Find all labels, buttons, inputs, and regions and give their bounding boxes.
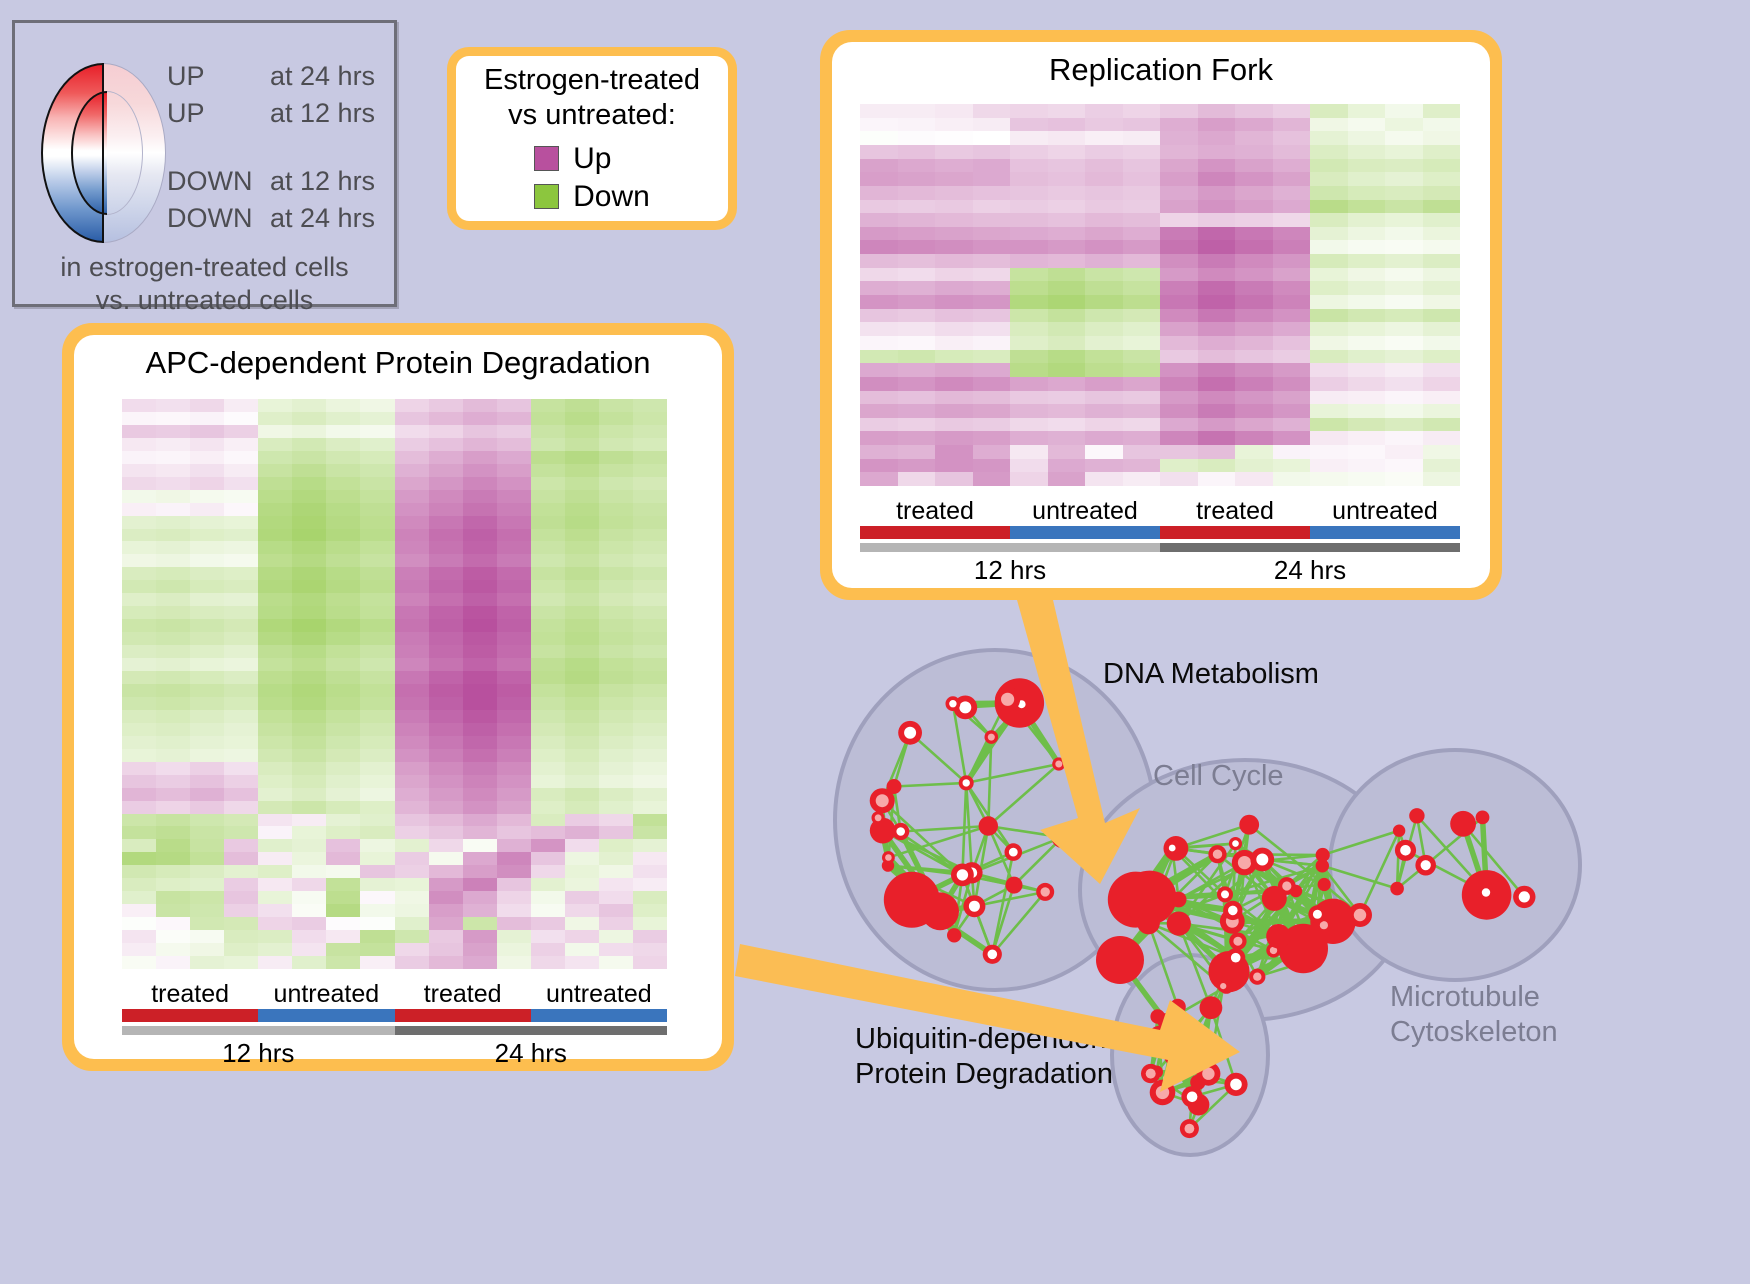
apc-time-labels: 12 hrs24 hrs: [122, 1038, 667, 1069]
apc-time-bar: [122, 1026, 667, 1035]
network-node: [1239, 815, 1259, 835]
group-label: untreated: [1010, 497, 1160, 526]
network-node: [1232, 840, 1239, 847]
network-node: [1409, 808, 1424, 823]
network-node: [1238, 856, 1251, 869]
ring-divider: [102, 63, 104, 243]
group-color-bar: [531, 1009, 667, 1022]
network-node: [885, 854, 892, 861]
network-node: [1137, 912, 1160, 935]
group-label: untreated: [531, 980, 667, 1009]
legend-key-down-24: DOWN: [167, 203, 252, 234]
panel-apc-degradation: APC-dependent Protein Degradation treate…: [62, 323, 734, 1071]
estrogen-legend-title-line1: Estrogen-treated: [484, 63, 700, 97]
network-node: [1400, 845, 1411, 856]
up-color-swatch: [534, 146, 559, 171]
down-color-swatch: [534, 184, 559, 209]
cluster-label-cell-cycle: Cell Cycle: [1153, 760, 1284, 793]
network-node: [1146, 1069, 1156, 1079]
network-node: [1318, 878, 1331, 891]
time-label: 12 hrs: [860, 555, 1160, 586]
network-node: [1450, 811, 1476, 837]
network-node: [959, 701, 971, 713]
time-color-bar: [122, 1026, 395, 1035]
network-node: [949, 700, 956, 707]
group-color-bar: [1010, 526, 1160, 539]
legend-key-up-12: UP: [167, 98, 205, 129]
network-node: [1185, 1066, 1192, 1073]
network-node: [1354, 909, 1366, 921]
network-node: [1282, 881, 1291, 890]
group-label: untreated: [258, 980, 394, 1009]
network-node: [957, 869, 968, 880]
estrogen-legend-title-line2: vs untreated:: [484, 98, 700, 132]
network-node: [1476, 811, 1490, 825]
legend-value-down-24: at 24 hrs: [270, 203, 375, 234]
estrogen-color-legend: Estrogen-treated vs untreated: Up Down: [447, 47, 737, 230]
network-node: [1200, 996, 1223, 1019]
network-node: [876, 794, 889, 807]
expression-circle-legend: UP at 24 hrs UP at 12 hrs DOWN at 12 hrs…: [12, 20, 397, 307]
network-node: [1057, 832, 1068, 843]
time-label: 24 hrs: [1160, 555, 1460, 586]
circle-legend-footer-line1: in estrogen-treated cells: [15, 251, 394, 284]
network-node: [1393, 825, 1405, 837]
group-color-bar: [1310, 526, 1460, 539]
network-node: [1156, 1086, 1169, 1099]
network-node: [1482, 888, 1490, 896]
network-node: [904, 727, 916, 739]
time-color-bar: [860, 543, 1160, 552]
group-label: treated: [860, 497, 1010, 526]
network-node: [1390, 882, 1404, 896]
legend-value-up-24: at 24 hrs: [270, 61, 375, 92]
network-node: [1041, 887, 1050, 896]
network-node: [1171, 892, 1187, 908]
network-node: [1233, 937, 1242, 946]
replication-time-bar: [860, 543, 1460, 552]
network-node: [1313, 910, 1322, 919]
time-label: 24 hrs: [395, 1038, 668, 1069]
time-label: 12 hrs: [122, 1038, 395, 1069]
group-color-bar: [1160, 526, 1310, 539]
network-node: [1055, 761, 1062, 768]
legend-key-up-24: UP: [167, 61, 205, 92]
network-node: [1167, 912, 1191, 936]
network-node: [1187, 1092, 1198, 1103]
apc-treatment-bar: [122, 1009, 667, 1022]
network-node: [988, 950, 998, 960]
network-node: [988, 734, 995, 741]
cluster-label-microtubule-line2: Cytoskeleton: [1390, 1015, 1558, 1050]
circle-legend-footer-line2: vs. untreated cells: [15, 284, 394, 317]
cluster-label-ubiquitin-line1: Ubiquitin-dependent: [855, 1022, 1115, 1057]
network-node: [947, 928, 961, 942]
legend-key-down-12: DOWN: [167, 166, 252, 197]
group-label: treated: [395, 980, 531, 1009]
group-color-bar: [395, 1009, 531, 1022]
network-node: [887, 779, 902, 794]
group-label: treated: [122, 980, 258, 1009]
legend-item-up: Up: [534, 142, 650, 176]
estrogen-legend-title: Estrogen-treated vs untreated:: [484, 63, 700, 131]
network-node: [963, 779, 970, 786]
network-node: [1230, 1079, 1242, 1091]
replication-group-labels: treateduntreatedtreateduntreated: [860, 497, 1460, 526]
cluster-label-ubiquitin-line2: Protein Degradation: [855, 1057, 1115, 1092]
network-node: [1519, 891, 1530, 902]
cluster-halo-microtubule: [1330, 750, 1580, 980]
network-node: [1001, 693, 1014, 706]
pathway-network-diagram: DNA Metabolism Cell Cycle Microtubule Cy…: [790, 615, 1750, 1279]
network-node: [1169, 1049, 1181, 1061]
network-node: [1202, 1068, 1214, 1080]
network-node: [1421, 860, 1431, 870]
network-node: [1170, 999, 1186, 1015]
cluster-label-dna-metabolism: DNA Metabolism: [1103, 658, 1319, 691]
network-node: [969, 901, 980, 912]
time-color-bar: [395, 1026, 668, 1035]
group-color-bar: [258, 1009, 394, 1022]
network-node: [1256, 854, 1268, 866]
network-node: [1154, 1031, 1166, 1043]
network-svg: [790, 615, 1750, 1279]
network-node: [1231, 953, 1241, 963]
group-color-bar: [122, 1009, 258, 1022]
network-node: [1228, 906, 1238, 916]
concentric-ring-diagram: [41, 41, 166, 266]
legend-item-down: Down: [534, 180, 650, 214]
network-node: [1185, 1124, 1195, 1134]
network-node: [896, 827, 905, 836]
network-node: [1220, 983, 1226, 989]
group-label: untreated: [1310, 497, 1460, 526]
panel-replication-title: Replication Fork: [832, 42, 1490, 88]
down-label: Down: [573, 180, 650, 214]
cluster-label-microtubule-line1: Microtubule: [1390, 980, 1558, 1015]
circle-legend-footer: in estrogen-treated cells vs. untreated …: [15, 251, 394, 317]
up-label: Up: [573, 142, 611, 176]
panel-apc-title: APC-dependent Protein Degradation: [74, 335, 722, 381]
legend-value-down-12: at 12 hrs: [270, 166, 375, 197]
network-node: [979, 816, 998, 835]
network-node: [875, 814, 882, 821]
heatmap-apc-degradation: [122, 399, 667, 969]
network-node: [1009, 848, 1018, 857]
cluster-label-microtubule-cytoskeleton: Microtubule Cytoskeleton: [1390, 980, 1558, 1050]
panel-replication-fork: Replication Fork treateduntreatedtreated…: [820, 30, 1502, 600]
network-node: [921, 892, 959, 930]
legend-value-up-12: at 12 hrs: [270, 98, 375, 129]
cluster-label-ubiquitin-degradation: Ubiquitin-dependent Protein Degradation: [855, 1022, 1115, 1093]
network-node: [1316, 859, 1329, 872]
network-node: [1096, 936, 1144, 984]
group-label: treated: [1160, 497, 1310, 526]
apc-group-labels: treateduntreatedtreateduntreated: [122, 980, 667, 1009]
network-node: [1304, 949, 1324, 969]
time-color-bar: [1160, 543, 1460, 552]
network-node: [1221, 890, 1229, 898]
replication-treatment-bar: [860, 526, 1460, 539]
network-node: [1253, 973, 1261, 981]
inner-ring-right-half: [107, 91, 143, 215]
replication-time-labels: 12 hrs24 hrs: [860, 555, 1460, 586]
network-node: [1169, 845, 1176, 852]
heatmap-replication-fork: [860, 104, 1460, 486]
network-node: [1266, 924, 1290, 948]
network-node: [1006, 877, 1023, 894]
group-color-bar: [860, 526, 1010, 539]
network-node: [1213, 850, 1222, 859]
